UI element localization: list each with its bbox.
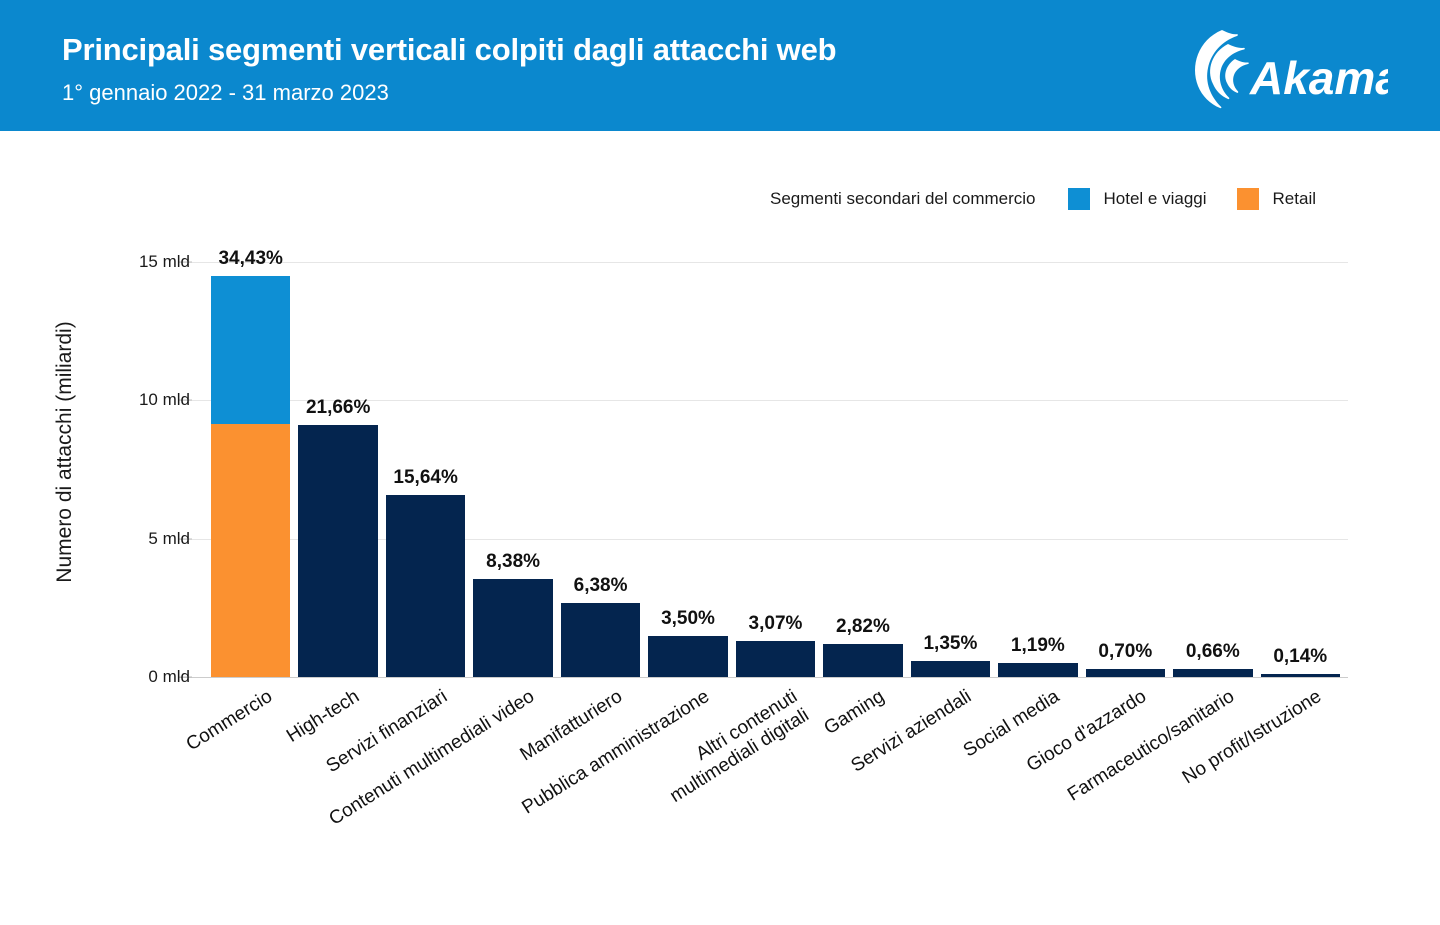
bar-segment[interactable] [386, 495, 465, 677]
bar-segment[interactable] [736, 641, 815, 677]
bar-segment[interactable] [823, 644, 902, 677]
bar-value-label: 21,66% [306, 397, 370, 419]
bar[interactable]: 15,64% [386, 495, 465, 677]
bar-segment[interactable] [998, 663, 1077, 677]
bar[interactable]: 0,66% [1173, 669, 1252, 677]
bar-value-label: 2,82% [836, 616, 890, 638]
y-axis-tick-label: 0 mld [70, 667, 190, 687]
bar-segment[interactable] [211, 276, 290, 425]
bar-segment[interactable] [473, 579, 552, 677]
bar[interactable]: 8,38% [473, 579, 552, 677]
bar-value-label: 0,66% [1186, 641, 1240, 663]
x-axis-category-label: High-tech [283, 686, 364, 748]
bar-value-label: 6,38% [574, 575, 628, 597]
bar-value-label: 34,43% [218, 248, 282, 270]
y-axis-title: Numero di attacchi (miliardi) [53, 237, 77, 667]
bar-segment[interactable] [1086, 669, 1165, 677]
bar[interactable]: 1,19% [998, 663, 1077, 677]
x-axis-category-label: Commercio [182, 686, 276, 756]
bar-segment[interactable] [1261, 674, 1340, 677]
bar-chart: Numero di attacchi (miliardi) 0 mld5 mld… [0, 0, 1440, 925]
bar[interactable]: 3,07% [736, 641, 815, 677]
gridline [178, 677, 1348, 678]
bar[interactable]: 34,43% [211, 276, 290, 677]
bar-value-label: 3,50% [661, 608, 715, 630]
bar[interactable]: 3,50% [648, 636, 727, 677]
x-axis-category-label: Gaming [821, 686, 889, 740]
x-axis-category-label: Farmaceutico/sanitario [1064, 686, 1239, 807]
bar-segment[interactable] [1173, 669, 1252, 677]
bar-value-label: 1,19% [1011, 635, 1065, 657]
bar[interactable]: 0,70% [1086, 669, 1165, 677]
bar-segment[interactable] [648, 636, 727, 677]
bar-segment[interactable] [561, 603, 640, 677]
bar[interactable]: 0,14% [1261, 674, 1340, 677]
bar-value-label: 1,35% [923, 633, 977, 655]
bar-segment[interactable] [298, 425, 377, 677]
bar[interactable]: 21,66% [298, 425, 377, 677]
bar-value-label: 3,07% [749, 613, 803, 635]
bar-value-label: 8,38% [486, 551, 540, 573]
bar-segment[interactable] [911, 661, 990, 677]
bar[interactable]: 6,38% [561, 603, 640, 677]
bar[interactable]: 2,82% [823, 644, 902, 677]
y-axis-tick-label: 5 mld [70, 529, 190, 549]
bar-segment[interactable] [211, 424, 290, 677]
bar-value-label: 0,70% [1098, 641, 1152, 663]
bar-value-label: 15,64% [393, 467, 457, 489]
y-axis-tick-label: 10 mld [70, 390, 190, 410]
y-axis-tick-label: 15 mld [70, 252, 190, 272]
bar-value-label: 0,14% [1273, 646, 1327, 668]
bar[interactable]: 1,35% [911, 661, 990, 677]
gridline [178, 262, 1348, 263]
